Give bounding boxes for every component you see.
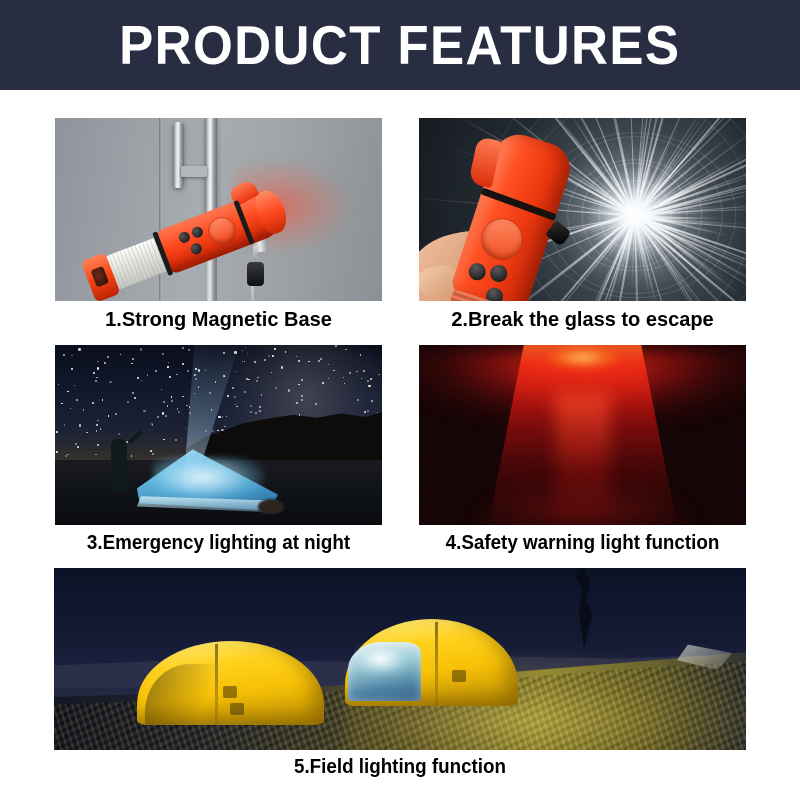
star [328,378,329,379]
star [171,400,173,402]
star [65,455,66,456]
star [320,358,322,360]
star [96,424,98,426]
star [344,383,345,384]
star [232,387,234,389]
star [155,370,157,372]
cabinet-handle-left [173,122,184,188]
star [301,379,303,381]
star [71,368,73,370]
star [67,391,69,393]
feature-caption-2: 2.Break the glass to escape [404,310,761,330]
star [322,382,324,384]
star [370,378,372,380]
feature-caption-5: 5.Field lighting function [75,757,725,777]
star [167,405,168,406]
star [171,396,172,397]
star [100,428,102,430]
star [244,361,245,362]
star [162,353,164,355]
feature-grid: 1.Strong Magnetic Base 2.Break the glass… [0,90,800,800]
star [308,361,310,363]
tent-interior-glow [355,643,407,674]
star [242,361,243,362]
star [79,424,81,426]
star [157,416,159,418]
star [298,360,300,362]
star [141,380,142,381]
star [245,347,246,348]
star [97,420,98,421]
star [318,360,320,362]
star [178,411,180,413]
star [120,354,121,355]
star [275,387,277,389]
star [132,358,134,360]
star [343,377,345,379]
star [377,412,379,414]
star [257,377,259,379]
star [235,371,236,372]
star [97,444,99,446]
tent-shadow [145,664,227,724]
star [234,396,236,398]
star [242,350,243,351]
star [255,412,257,414]
star [250,405,252,407]
key-head [247,262,264,286]
tent-inner-glow [153,457,264,504]
star [360,354,362,356]
star [97,367,99,369]
rock [258,499,284,514]
star [70,408,71,409]
star [328,364,329,365]
star [152,424,154,426]
star [97,361,98,362]
star [264,359,265,360]
star [175,439,177,441]
star [147,374,149,376]
star [134,397,136,399]
star [259,406,261,408]
star [150,450,152,452]
star [75,443,76,444]
feature-caption-1: 1.Strong Magnetic Base [40,310,397,330]
star [71,355,73,357]
star [356,371,358,373]
star [371,400,373,402]
camper-silhouette [111,439,127,491]
star [167,366,169,368]
image-grain [419,345,746,525]
star [378,374,380,376]
star [224,426,225,427]
star [140,348,142,350]
key-lanyard [251,286,254,301]
star [104,362,106,364]
star [182,396,184,398]
star [58,384,60,386]
star [368,385,370,387]
star [259,410,260,411]
star [301,395,303,397]
star [296,356,297,357]
star [281,366,283,368]
star [285,351,287,353]
star [118,433,120,435]
tent-seam [435,622,438,706]
star [222,416,224,418]
tent-vent-upper [223,686,237,698]
star [218,416,220,418]
star [83,409,84,410]
star [361,378,362,379]
star [143,410,145,412]
feature-image-5 [54,568,746,750]
feature-image-4 [419,345,746,525]
star [61,403,63,405]
tent-vent-lower [230,703,244,715]
star [301,399,303,401]
star [298,384,299,385]
star [162,412,164,414]
star [102,399,104,401]
star [364,411,366,413]
star [250,411,252,413]
star [288,389,290,391]
star [96,430,98,432]
star [177,408,179,410]
star [187,370,189,372]
star [67,454,69,456]
star [357,399,359,401]
star [176,374,177,375]
feature-image-3 [55,345,382,525]
feature-caption-4: 4.Safety warning light function [415,533,751,553]
star [77,446,79,448]
header-bar: PRODUCT FEATURES [0,0,800,90]
star [96,377,97,378]
star [108,415,110,417]
star [274,348,276,350]
star [74,385,75,386]
star [86,432,87,433]
star [335,345,337,347]
star [254,361,256,363]
tent-vent [452,670,466,682]
star [127,401,129,403]
star [247,353,248,354]
hanging-key [247,246,257,292]
star [92,402,94,404]
star [315,403,317,405]
star [272,355,274,357]
star [271,372,273,374]
page-title: PRODUCT FEATURES [119,18,680,73]
star [93,372,95,374]
star [95,454,97,456]
star [78,348,80,350]
star [345,349,346,350]
star [109,381,111,383]
star [182,363,184,365]
star [212,430,214,432]
star [64,424,66,426]
star [163,439,165,441]
feature-caption-3: 3.Emergency lighting at night [51,533,387,553]
star [226,416,227,417]
star [107,356,109,358]
star [333,370,335,372]
star [296,402,298,404]
star [132,392,134,394]
star [363,370,365,372]
star [227,395,229,397]
handle-mount-upper [181,166,207,177]
star [115,413,117,415]
star [161,389,162,390]
star [56,431,58,433]
star [131,455,132,456]
star [367,380,369,382]
star [95,380,96,381]
star [217,430,219,432]
impact-point-flash [587,167,683,263]
star [186,405,187,406]
star [256,380,258,382]
star [236,406,237,407]
feature-image-2 [419,118,746,301]
star [169,376,171,378]
star [76,399,78,401]
star [168,362,170,364]
star [349,372,351,374]
star [137,377,139,379]
star [185,428,186,429]
star [165,415,167,417]
star [63,354,65,356]
star [182,347,184,349]
star [163,401,165,403]
star [261,394,263,396]
star [188,349,190,351]
star [131,363,133,365]
star [152,453,154,455]
feature-image-1 [55,118,382,301]
star [367,410,369,412]
star [268,355,270,357]
star [56,451,58,453]
star [248,379,249,380]
star [244,391,246,393]
